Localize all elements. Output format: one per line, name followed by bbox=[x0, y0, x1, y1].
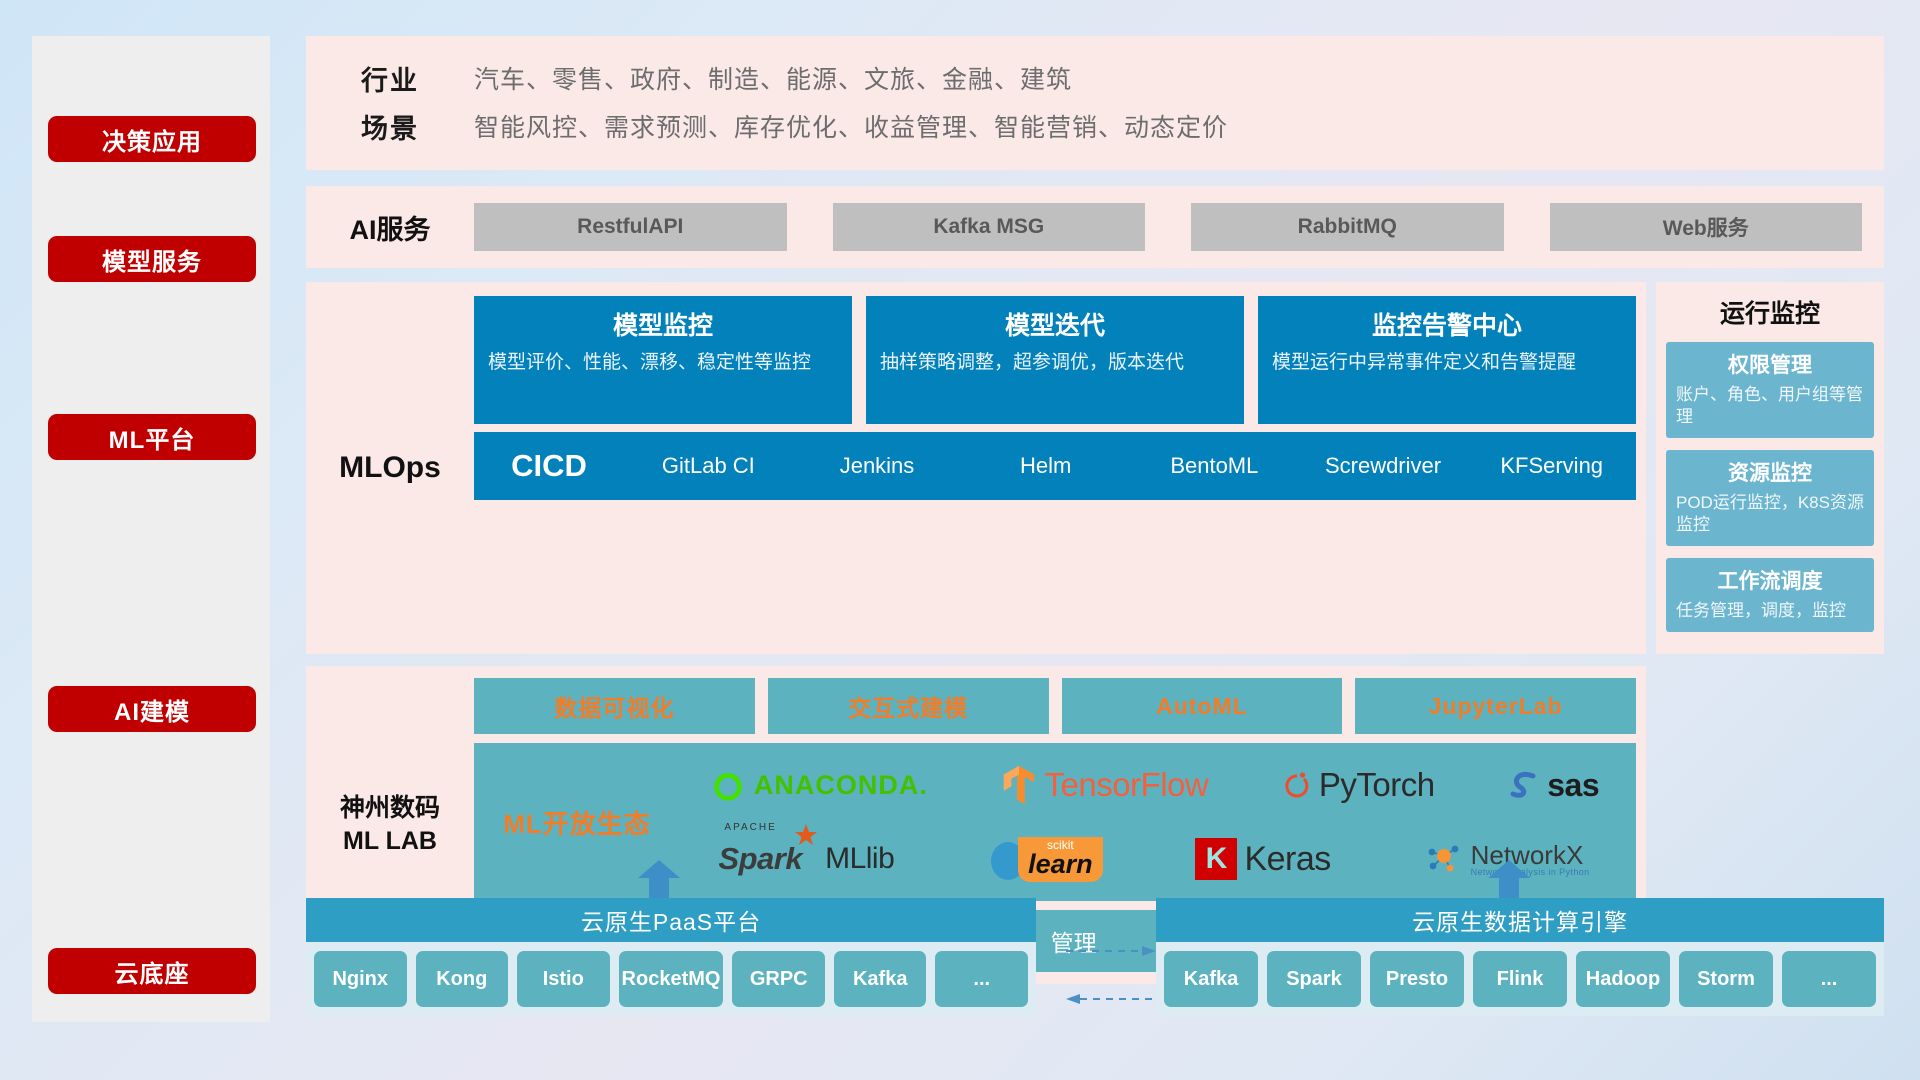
main-column: 行业 汽车、零售、政府、制造、能源、文旅、金融、建筑 场景 智能风控、需求预测、… bbox=[306, 36, 1884, 984]
up-arrow-icon-paas bbox=[636, 860, 682, 900]
card-desc: 抽样策略调整，超参调优，版本迭代 bbox=[880, 350, 1230, 376]
pytorch-glyph bbox=[1282, 768, 1312, 802]
rail-item-ml-platform[interactable]: ML平台 bbox=[48, 414, 256, 460]
paas-chip-kong[interactable]: Kong bbox=[416, 951, 509, 1007]
tool-chip-automl[interactable]: AutoML bbox=[1062, 678, 1343, 734]
cicd-item-group: GitLab CI Jenkins Helm BentoML Screwdriv… bbox=[624, 454, 1636, 477]
paas-chip-rocketmq[interactable]: RocketMQ bbox=[619, 951, 724, 1007]
cicd-item-helm[interactable]: Helm bbox=[961, 454, 1130, 477]
ml-lab-label-line2: ML LAB bbox=[343, 825, 437, 859]
cloud-foundation-section: 云原生PaaS平台 Nginx Kong Istio RocketMQ GRPC… bbox=[306, 862, 1884, 1034]
scenario-row: 场景 智能风控、需求预测、库存优化、收益管理、智能营销、动态定价 bbox=[306, 102, 1884, 150]
paas-chip-kafka[interactable]: Kafka bbox=[834, 951, 927, 1007]
mlops-card-model-monitoring[interactable]: 模型监控 模型评价、性能、漂移、稳定性等监控 bbox=[474, 296, 852, 424]
chip-label: RestfulAPI bbox=[577, 215, 683, 239]
card-title: 模型迭代 bbox=[880, 306, 1230, 342]
paas-platform-title: 云原生PaaS平台 bbox=[306, 898, 1036, 942]
industry-scenario-band: 行业 汽车、零售、政府、制造、能源、文旅、金融、建筑 场景 智能风控、需求预测、… bbox=[306, 36, 1884, 170]
tool-chip-interactive-modeling[interactable]: 交互式建模 bbox=[768, 678, 1049, 734]
apache-supertext: APACHE bbox=[724, 822, 776, 833]
rail-item-ai-modeling[interactable]: AI建模 bbox=[48, 686, 256, 732]
dashed-arrow-right-icon bbox=[1066, 944, 1156, 958]
rail-item-label: AI建模 bbox=[114, 692, 190, 727]
cloud-native-data-compute-engine: 云原生数据计算引擎 Kafka Spark Presto Flink Hadoo… bbox=[1156, 898, 1884, 1016]
card-title: 权限管理 bbox=[1676, 349, 1864, 379]
mlops-card-alert-center[interactable]: 监控告警中心 模型运行中异常事件定义和告警提醒 bbox=[1258, 296, 1636, 424]
runtime-monitor-title: 运行监控 bbox=[1666, 294, 1874, 330]
data-engine-title: 云原生数据计算引擎 bbox=[1156, 898, 1884, 942]
mlops-content: 模型监控 模型评价、性能、漂移、稳定性等监控 模型迭代 抽样策略调整，超参调优，… bbox=[474, 296, 1646, 640]
data-engine-chip-more[interactable]: ... bbox=[1782, 951, 1876, 1007]
anaconda-logo: ANACONDA. bbox=[709, 766, 928, 804]
monitor-card-permission[interactable]: 权限管理 账户、角色、用户组等管理 bbox=[1666, 342, 1874, 438]
chip-label: Web服务 bbox=[1663, 212, 1749, 242]
industry-value: 汽车、零售、政府、制造、能源、文旅、金融、建筑 bbox=[474, 60, 1072, 96]
cicd-title: CICD bbox=[474, 448, 624, 484]
card-desc: 模型运行中异常事件定义和告警提醒 bbox=[1272, 350, 1622, 376]
mlops-row: MLOps 模型监控 模型评价、性能、漂移、稳定性等监控 模型迭代 抽样策略调整… bbox=[306, 282, 1884, 654]
paas-chip-group: Nginx Kong Istio RocketMQ GRPC Kafka ... bbox=[306, 942, 1036, 1016]
data-engine-chip-flink[interactable]: Flink bbox=[1473, 951, 1567, 1007]
cicd-item-bentoml[interactable]: BentoML bbox=[1130, 454, 1299, 477]
tool-chip-jupyterlab[interactable]: JupyterLab bbox=[1355, 678, 1636, 734]
ai-service-label: AI服务 bbox=[306, 208, 474, 247]
card-desc: 任务管理，调度，监控 bbox=[1676, 600, 1864, 622]
data-engine-chip-presto[interactable]: Presto bbox=[1370, 951, 1464, 1007]
sas-logo: sas bbox=[1508, 767, 1599, 804]
paas-chip-istio[interactable]: Istio bbox=[517, 951, 610, 1007]
industry-key: 行业 bbox=[306, 59, 474, 98]
tensorflow-glyph bbox=[1001, 764, 1037, 806]
data-engine-chip-spark[interactable]: Spark bbox=[1267, 951, 1361, 1007]
rail-item-decision-app[interactable]: 决策应用 bbox=[48, 116, 256, 162]
ai-service-chip-kafka-msg[interactable]: Kafka MSG bbox=[833, 203, 1146, 251]
card-title: 模型监控 bbox=[488, 306, 838, 342]
ml-ecosystem-logo-row-1: ANACONDA. TensorFlow bbox=[672, 750, 1636, 820]
ml-lab-tool-group: 数据可视化 交互式建模 AutoML JupyterLab bbox=[474, 678, 1636, 734]
rail-item-label: 决策应用 bbox=[102, 122, 202, 157]
tensorflow-logo: TensorFlow bbox=[1001, 764, 1208, 806]
card-desc: POD运行监控，K8S资源监控 bbox=[1676, 492, 1864, 536]
ml-ecosystem-label: ML开放生态 bbox=[482, 804, 672, 841]
rail-item-model-service[interactable]: 模型服务 bbox=[48, 236, 256, 282]
rail-item-label: ML平台 bbox=[109, 420, 196, 455]
cicd-item-screwdriver[interactable]: Screwdriver bbox=[1299, 454, 1468, 477]
rail-item-label: 云底座 bbox=[115, 954, 190, 989]
cicd-item-gitlab-ci[interactable]: GitLab CI bbox=[624, 454, 793, 477]
card-title: 监控告警中心 bbox=[1272, 306, 1622, 342]
cloud-native-paas-platform: 云原生PaaS平台 Nginx Kong Istio RocketMQ GRPC… bbox=[306, 898, 1036, 1016]
paas-chip-grpc[interactable]: GRPC bbox=[732, 951, 825, 1007]
sas-glyph bbox=[1508, 768, 1540, 802]
chip-label: Kafka MSG bbox=[933, 215, 1044, 239]
mlops-label: MLOps bbox=[306, 296, 474, 640]
anaconda-glyph bbox=[709, 766, 747, 804]
cicd-bar: CICD GitLab CI Jenkins Helm BentoML Scre… bbox=[474, 432, 1636, 500]
card-title: 工作流调度 bbox=[1676, 565, 1864, 595]
ai-service-chip-web-service[interactable]: Web服务 bbox=[1550, 203, 1863, 251]
mlops-card-model-iteration[interactable]: 模型迭代 抽样策略调整，超参调优，版本迭代 bbox=[866, 296, 1244, 424]
dashed-arrow-left-icon bbox=[1066, 992, 1156, 1006]
mlops-band: MLOps 模型监控 模型评价、性能、漂移、稳定性等监控 模型迭代 抽样策略调整… bbox=[306, 282, 1646, 654]
chip-label: RabbitMQ bbox=[1298, 215, 1397, 239]
ai-service-chip-group: RestfulAPI Kafka MSG RabbitMQ Web服务 bbox=[474, 203, 1884, 251]
ai-service-band: AI服务 RestfulAPI Kafka MSG RabbitMQ Web服务 bbox=[306, 186, 1884, 268]
runtime-monitor-panel: 运行监控 权限管理 账户、角色、用户组等管理 资源监控 POD运行监控，K8S资… bbox=[1656, 282, 1884, 654]
sas-wordmark: sas bbox=[1547, 767, 1599, 804]
scenario-value: 智能风控、需求预测、库存优化、收益管理、智能营销、动态定价 bbox=[474, 108, 1228, 144]
data-engine-chip-kafka[interactable]: Kafka bbox=[1164, 951, 1258, 1007]
rail-item-cloud-base[interactable]: 云底座 bbox=[48, 948, 256, 994]
scenario-key: 场景 bbox=[306, 107, 474, 146]
ai-service-chip-rabbitmq[interactable]: RabbitMQ bbox=[1191, 203, 1504, 251]
tool-chip-data-visualization[interactable]: 数据可视化 bbox=[474, 678, 755, 734]
paas-chip-nginx[interactable]: Nginx bbox=[314, 951, 407, 1007]
card-desc: 模型评价、性能、漂移、稳定性等监控 bbox=[488, 350, 838, 376]
card-title: 资源监控 bbox=[1676, 457, 1864, 487]
cicd-item-kfserving[interactable]: KFServing bbox=[1467, 454, 1636, 477]
tensorflow-wordmark: TensorFlow bbox=[1044, 766, 1208, 804]
data-engine-chip-group: Kafka Spark Presto Flink Hadoop Storm ..… bbox=[1156, 942, 1884, 1016]
monitor-card-workflow[interactable]: 工作流调度 任务管理，调度，监控 bbox=[1666, 558, 1874, 632]
monitor-card-resource[interactable]: 资源监控 POD运行监控，K8S资源监控 bbox=[1666, 450, 1874, 546]
pytorch-logo: PyTorch bbox=[1282, 766, 1435, 804]
rail-item-label: 模型服务 bbox=[102, 242, 202, 277]
ai-service-chip-restfulapi[interactable]: RestfulAPI bbox=[474, 203, 787, 251]
up-arrow-icon-data-engine bbox=[1486, 860, 1532, 900]
data-engine-chip-hadoop[interactable]: Hadoop bbox=[1576, 951, 1670, 1007]
pytorch-wordmark: PyTorch bbox=[1319, 766, 1435, 804]
cicd-item-jenkins[interactable]: Jenkins bbox=[793, 454, 962, 477]
left-rail: 决策应用 模型服务 ML平台 AI建模 云底座 bbox=[32, 36, 270, 1022]
paas-chip-more[interactable]: ... bbox=[935, 951, 1028, 1007]
card-desc: 账户、角色、用户组等管理 bbox=[1676, 384, 1864, 428]
anaconda-wordmark: ANACONDA. bbox=[754, 770, 928, 801]
ml-lab-label-line1: 神州数码 bbox=[340, 792, 440, 826]
mlops-card-group: 模型监控 模型评价、性能、漂移、稳定性等监控 模型迭代 抽样策略调整，超参调优，… bbox=[474, 296, 1636, 424]
industry-row: 行业 汽车、零售、政府、制造、能源、文旅、金融、建筑 bbox=[306, 54, 1884, 102]
data-engine-chip-storm[interactable]: Storm bbox=[1679, 951, 1773, 1007]
spark-star-glyph bbox=[794, 823, 818, 847]
